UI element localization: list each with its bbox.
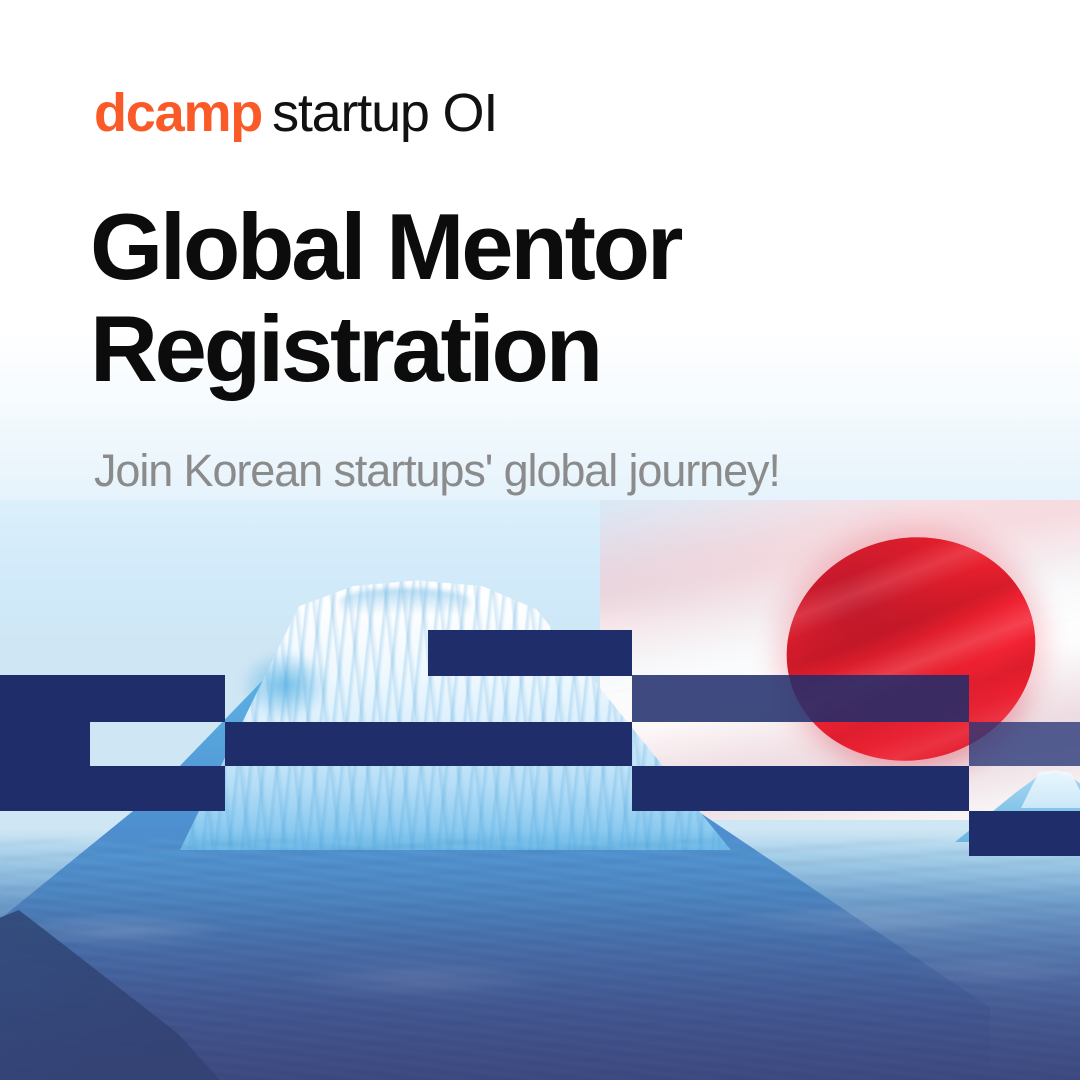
mosaic-block — [632, 766, 969, 811]
headline-line-1: Global Mentor — [90, 194, 680, 299]
page-subtitle: Join Korean startups' global journey! — [94, 444, 780, 498]
mosaic-block — [632, 675, 969, 722]
headline-line-2: Registration — [90, 296, 600, 401]
promo-poster: dcampstartup OI Global MentorRegistratio… — [0, 0, 1080, 1080]
mosaic-block — [969, 811, 1080, 856]
mosaic-block — [969, 722, 1080, 766]
mosaic-block — [0, 675, 225, 722]
mosaic-block — [0, 722, 90, 766]
brand-logo[interactable]: dcampstartup OI — [94, 86, 497, 140]
mosaic-block — [0, 766, 225, 811]
logo-suffix-startup-oi: startup OI — [272, 83, 497, 143]
mosaic-block-overlay — [0, 0, 1080, 1080]
page-title: Global MentorRegistration — [90, 196, 790, 399]
mosaic-block — [428, 630, 632, 676]
mosaic-block — [225, 722, 632, 766]
logo-wordmark-dcamp: dcamp — [94, 83, 262, 143]
